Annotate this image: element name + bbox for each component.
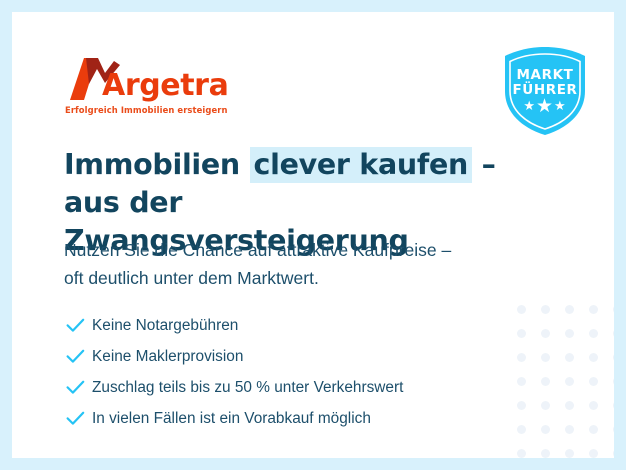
decor-dot [565, 329, 574, 338]
market-leader-badge: MARKT FÜHRER ★★★ [501, 45, 589, 137]
decor-dot [541, 425, 550, 434]
decor-dot [613, 377, 614, 386]
dot-grid-decoration [517, 305, 614, 458]
decor-dot [565, 305, 574, 314]
list-item-label: In vielen Fällen ist ein Vorabkauf mögli… [92, 410, 371, 428]
list-item: Keine Maklerprovision [66, 341, 496, 372]
decor-dot [541, 377, 550, 386]
argetra-logo-wordmark: Argetra [102, 68, 228, 103]
decor-dot [517, 353, 526, 362]
decor-dot [613, 401, 614, 410]
headline-part-1: Immobilien [64, 148, 250, 181]
decor-dot [565, 401, 574, 410]
decor-dot [565, 377, 574, 386]
decor-dot [613, 449, 614, 458]
argetra-logo-tagline: Erfolgreich Immobilien ersteigern [65, 105, 228, 115]
decor-dot [613, 353, 614, 362]
decor-dot [541, 449, 550, 458]
decor-dot [517, 377, 526, 386]
decor-dot [565, 449, 574, 458]
decor-dot [517, 425, 526, 434]
decor-dot [589, 449, 598, 458]
decor-dot [589, 425, 598, 434]
promo-card: Argetra Erfolgreich Immobilien ersteiger… [12, 12, 614, 458]
list-item: In vielen Fällen ist ein Vorabkauf mögli… [66, 403, 496, 434]
check-icon [66, 318, 92, 333]
decor-dot [541, 353, 550, 362]
decor-dot [517, 305, 526, 314]
promo-frame: Argetra Erfolgreich Immobilien ersteiger… [0, 0, 626, 470]
benefits-list: Keine NotargebührenKeine Maklerprovision… [66, 310, 496, 434]
decor-dot [589, 353, 598, 362]
decor-dot [589, 377, 598, 386]
headline-part-2: – [472, 148, 496, 181]
page-subtitle: Nutzen Sie die Chance auf attraktive Kau… [64, 236, 544, 292]
decor-dot [613, 305, 614, 314]
decor-dot [541, 329, 550, 338]
list-item: Zuschlag teils bis zu 50 % unter Verkehr… [66, 372, 496, 403]
decor-dot [589, 401, 598, 410]
decor-dot [541, 401, 550, 410]
decor-dot [517, 401, 526, 410]
list-item-label: Keine Notargebühren [92, 317, 238, 335]
list-item: Keine Notargebühren [66, 310, 496, 341]
decor-dot [541, 305, 550, 314]
check-icon [66, 411, 92, 426]
check-icon [66, 349, 92, 364]
subtitle-line-2: oft deutlich unter dem Marktwert. [64, 268, 319, 288]
decor-dot [589, 329, 598, 338]
decor-dot [517, 329, 526, 338]
decor-dot [517, 449, 526, 458]
badge-stars-icon: ★★★ [501, 97, 589, 116]
list-item-label: Zuschlag teils bis zu 50 % unter Verkehr… [92, 379, 403, 397]
argetra-logo: Argetra Erfolgreich Immobilien ersteiger… [64, 56, 264, 118]
badge-line-1: MARKT [501, 67, 589, 83]
decor-dot [613, 329, 614, 338]
list-item-label: Keine Maklerprovision [92, 348, 243, 366]
check-icon [66, 380, 92, 395]
headline-highlight: clever kaufen [250, 147, 472, 183]
decor-dot [589, 305, 598, 314]
decor-dot [613, 425, 614, 434]
decor-dot [565, 353, 574, 362]
decor-dot [565, 425, 574, 434]
subtitle-line-1: Nutzen Sie die Chance auf attraktive Kau… [64, 240, 451, 260]
